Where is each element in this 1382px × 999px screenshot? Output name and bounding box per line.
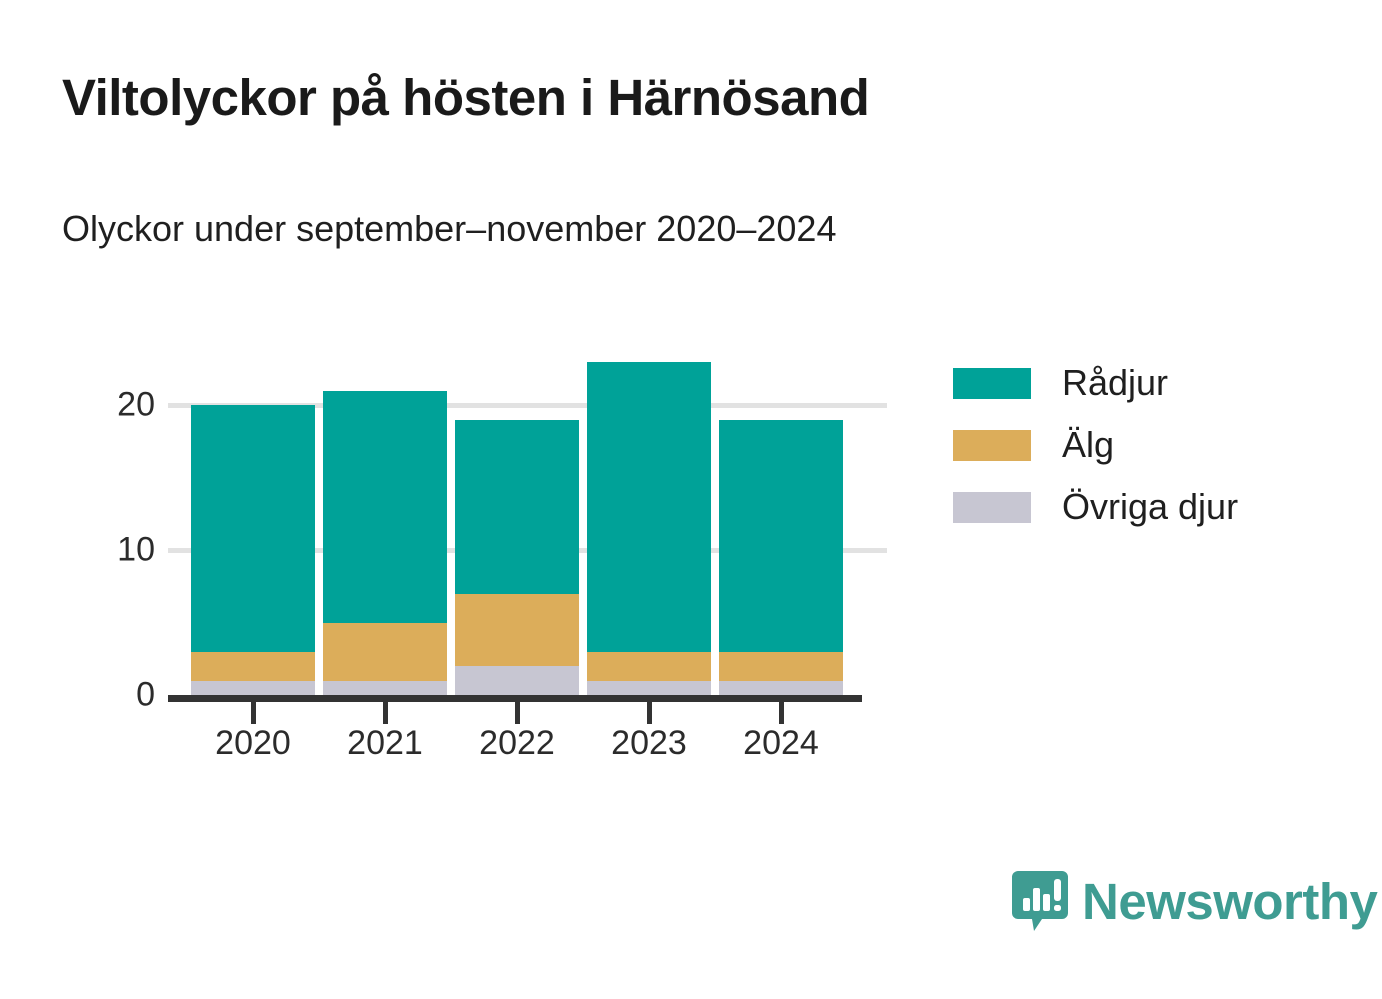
bar-stack[interactable]	[191, 405, 315, 695]
x-axis-line	[168, 695, 862, 702]
bar-segment[interactable]	[587, 681, 711, 696]
x-axis-tick-label: 2023	[584, 724, 714, 763]
y-axis-labels: 01020	[85, 0, 155, 999]
y-axis-tick-label: 0	[85, 676, 155, 715]
legend-item-label: Älg	[1062, 424, 1114, 466]
legend-swatch	[953, 368, 1031, 399]
bar-segment[interactable]	[719, 420, 843, 652]
legend-item-label: Rådjur	[1062, 362, 1168, 404]
bar-segment[interactable]	[455, 420, 579, 594]
bar-segment[interactable]	[719, 681, 843, 696]
newsworthy-logo: Newsworthy	[1012, 869, 1377, 933]
legend-item[interactable]: Övriga djur	[953, 476, 1353, 538]
bar-segment[interactable]	[455, 594, 579, 667]
bar-stack[interactable]	[587, 362, 711, 696]
legend-swatch	[953, 430, 1031, 461]
bar-stack[interactable]	[455, 420, 579, 696]
bar-segment[interactable]	[323, 681, 447, 696]
bar-segment[interactable]	[587, 652, 711, 681]
x-axis-tick	[779, 702, 784, 724]
x-axis-tick	[515, 702, 520, 724]
logo-wordmark: Newsworthy	[1082, 876, 1377, 927]
y-axis-tick-label: 20	[85, 386, 155, 425]
bar-segment[interactable]	[191, 652, 315, 681]
x-axis-tick-label: 2022	[452, 724, 582, 763]
bar-segment[interactable]	[323, 623, 447, 681]
bar-segment[interactable]	[323, 391, 447, 623]
bar-segment[interactable]	[455, 666, 579, 695]
legend-swatch	[953, 492, 1031, 523]
x-axis-tick-label: 2024	[716, 724, 846, 763]
y-axis-tick-label: 10	[85, 531, 155, 570]
legend-item[interactable]: Rådjur	[953, 352, 1353, 414]
bar-segment[interactable]	[191, 681, 315, 696]
x-axis-tick-label: 2020	[188, 724, 318, 763]
bar-stack[interactable]	[323, 391, 447, 696]
legend-item[interactable]: Älg	[953, 414, 1353, 476]
x-axis-tick	[251, 702, 256, 724]
x-axis-tick-label: 2021	[320, 724, 450, 763]
bar-stack[interactable]	[719, 420, 843, 696]
newsworthy-bar-chart-bubble-icon	[1012, 869, 1068, 933]
chart-page: Viltolyckor på hösten i Härnösand Olycko…	[0, 0, 1382, 999]
x-axis-tick	[647, 702, 652, 724]
bar-segment[interactable]	[587, 362, 711, 652]
legend-item-label: Övriga djur	[1062, 486, 1238, 528]
x-axis-tick	[383, 702, 388, 724]
bar-segment[interactable]	[719, 652, 843, 681]
bar-segment[interactable]	[191, 405, 315, 652]
chart-legend: RådjurÄlgÖvriga djur	[953, 352, 1353, 538]
